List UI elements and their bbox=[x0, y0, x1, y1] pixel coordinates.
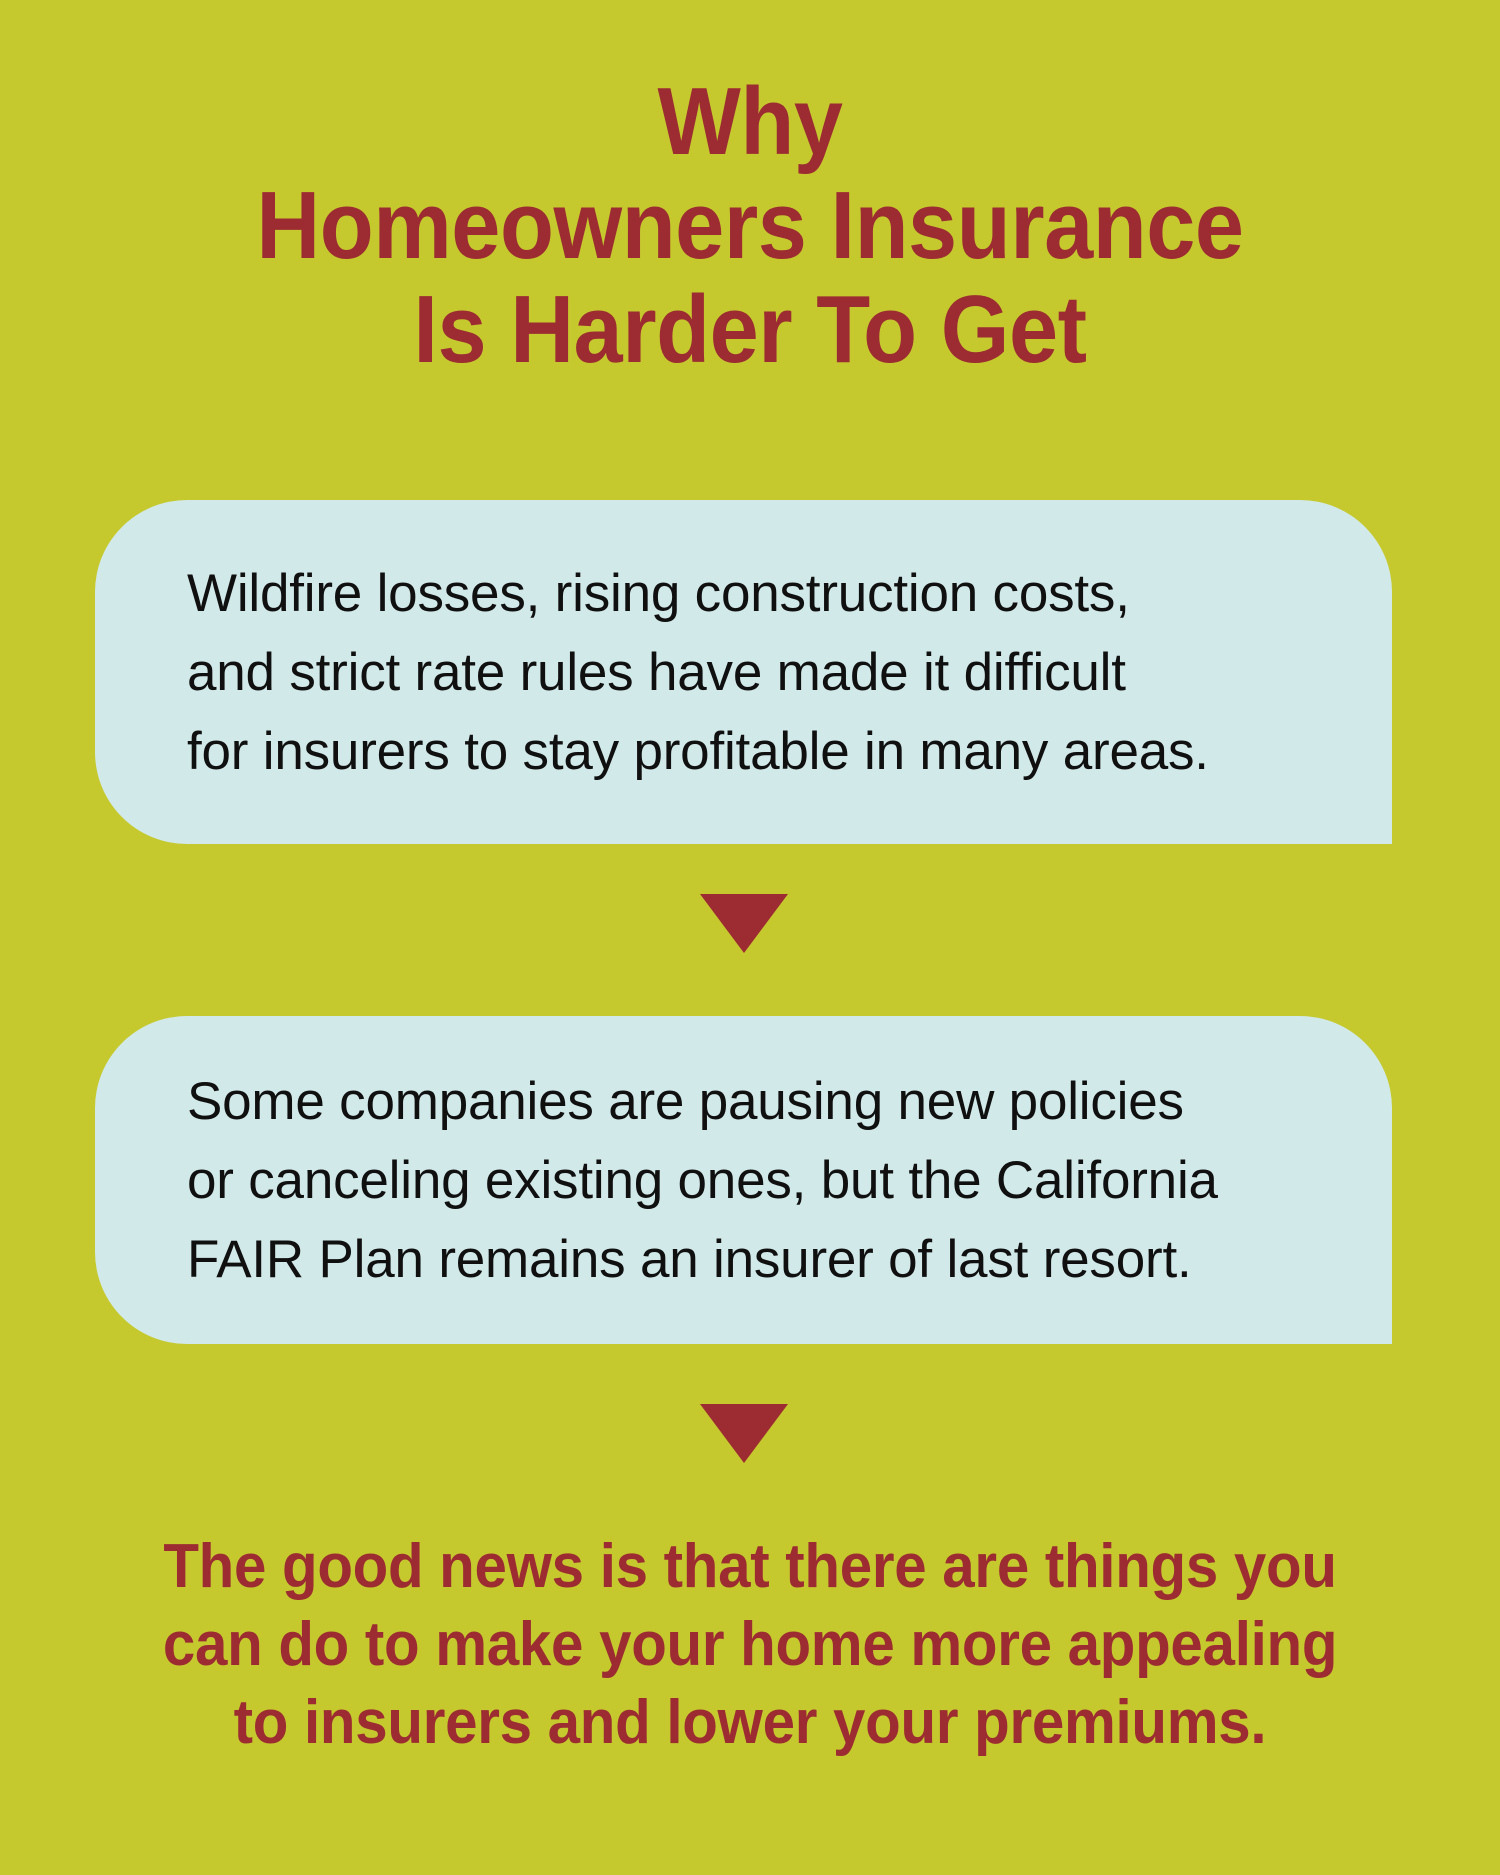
closing-statement: The good news is that there are things y… bbox=[0, 1528, 1500, 1762]
triangle-down-icon bbox=[700, 894, 788, 953]
title-line-1: Why bbox=[60, 70, 1440, 174]
closing-line-3: to insurers and lower your premiums. bbox=[45, 1684, 1455, 1762]
bubble-1-line-3: for insurers to stay profitable in many … bbox=[187, 712, 1336, 791]
closing-line-2: can do to make your home more appealing bbox=[45, 1606, 1455, 1684]
page-title: Why Homeowners Insurance Is Harder To Ge… bbox=[0, 70, 1500, 382]
bubble-2-line-3: FAIR Plan remains an insurer of last res… bbox=[187, 1220, 1336, 1299]
triangle-down-icon bbox=[700, 1404, 788, 1463]
speech-bubble-2-text: Some companies are pausing new policies … bbox=[187, 1062, 1336, 1299]
bubble-1-line-2: and strict rate rules have made it diffi… bbox=[187, 633, 1336, 712]
bubble-2-line-1: Some companies are pausing new policies bbox=[187, 1062, 1336, 1141]
speech-bubble-1-text: Wildfire losses, rising construction cos… bbox=[187, 554, 1336, 791]
infographic-poster: Why Homeowners Insurance Is Harder To Ge… bbox=[0, 0, 1500, 1875]
bubble-2-line-2: or canceling existing ones, but the Cali… bbox=[187, 1141, 1336, 1220]
title-line-3: Is Harder To Get bbox=[60, 278, 1440, 382]
bubble-1-line-1: Wildfire losses, rising construction cos… bbox=[187, 554, 1336, 633]
speech-bubble-1: Wildfire losses, rising construction cos… bbox=[95, 500, 1392, 844]
speech-bubble-2: Some companies are pausing new policies … bbox=[95, 1016, 1392, 1344]
title-line-2: Homeowners Insurance bbox=[60, 174, 1440, 278]
closing-line-1: The good news is that there are things y… bbox=[45, 1528, 1455, 1606]
